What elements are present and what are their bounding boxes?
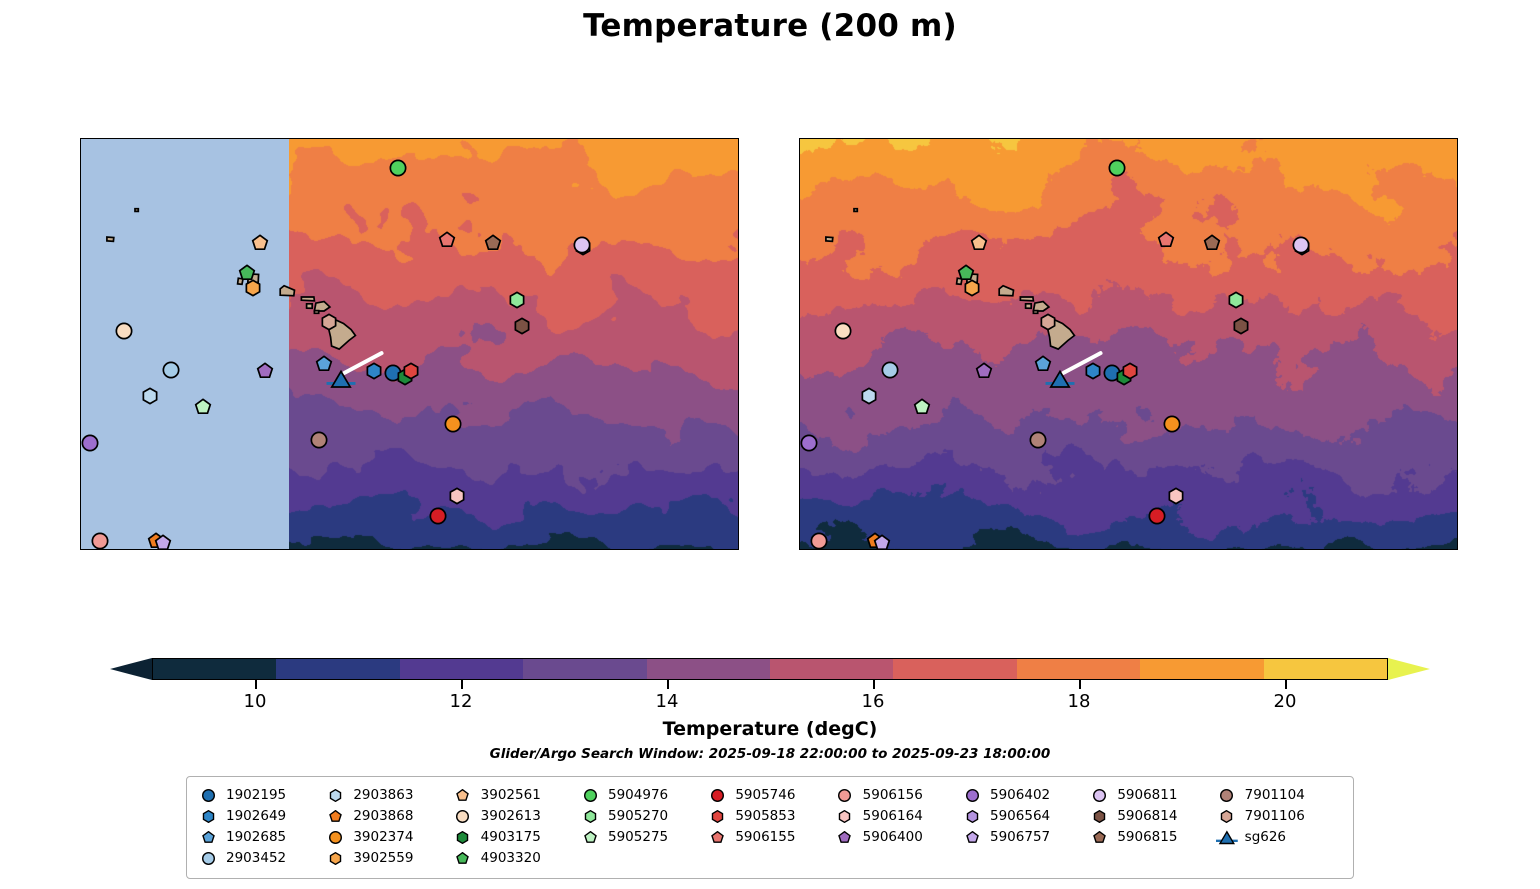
lat-minor-tick [80, 189, 81, 191]
colorbar-band-8 [1140, 659, 1263, 679]
lon-minor-tick [438, 549, 440, 550]
lon-tick-159°W [984, 549, 986, 550]
legend-label-5905275: 5905275 [608, 829, 668, 845]
lat-minor-tick [738, 393, 739, 395]
lat-tick-right-21°N [1457, 302, 1458, 304]
lat-minor-tick [80, 325, 81, 327]
legend-label-3902561: 3902561 [481, 787, 541, 803]
lat-tick-right-24°N [738, 234, 739, 236]
legend-marker-pentagon-icon [706, 827, 728, 847]
island-french-frigate [107, 237, 114, 241]
colorbar-tick-label-16: 16 [862, 691, 885, 712]
lon-minor-tick [876, 549, 878, 550]
legend-label-5906757: 5906757 [990, 829, 1050, 845]
platform-marker-3902561-espc[interactable] [971, 235, 988, 252]
lat-minor-tick [738, 279, 739, 281]
lon-minor-tick [1005, 549, 1007, 550]
legend-marker-circle-icon [706, 785, 728, 805]
legend-item-5906564[interactable]: 5906564 [961, 806, 1088, 826]
lon-minor-tick [1200, 549, 1202, 550]
lat-minor-tick [799, 189, 800, 191]
legend-item-5905275[interactable]: 5905275 [579, 827, 706, 847]
platform-marker-5905853-rtofs[interactable] [402, 363, 419, 380]
lat-tick-right-18°N [1457, 370, 1458, 372]
lon-tick-162°W [919, 549, 921, 550]
lat-minor-tick [799, 415, 800, 417]
legend-marker-hexagon-icon [961, 806, 983, 826]
lat-tick-right-15°N [1457, 438, 1458, 440]
lat-minor-tick [80, 211, 81, 213]
lat-minor-tick [80, 393, 81, 395]
colorbar-tick-label-12: 12 [450, 691, 473, 712]
lon-tick-150°W [1178, 549, 1180, 550]
legend-marker-pentagon-icon [961, 827, 983, 847]
colorbar-tick-12 [461, 680, 463, 689]
legend-label-1902649: 1902649 [226, 808, 286, 824]
island-gardner-pinnacles [135, 209, 138, 212]
platform-marker-7901106-espc[interactable] [1040, 314, 1057, 331]
platform-marker-7901106-rtofs[interactable] [321, 314, 338, 331]
lat-tick-right-15°N [738, 438, 739, 440]
island-lanai [307, 304, 313, 309]
legend-marker-hexagon-icon [197, 806, 219, 826]
legend-label-5905746: 5905746 [735, 787, 795, 803]
lat-minor-tick [738, 325, 739, 327]
legend-marker-circle-icon [324, 827, 346, 847]
lat-minor-tick [738, 257, 739, 259]
legend-item-2903452[interactable]: 2903452 [197, 848, 324, 868]
island-molokai [1020, 297, 1033, 301]
lon-minor-tick [1394, 549, 1396, 550]
lon-minor-tick [697, 549, 699, 550]
lon-tick-162°W [200, 549, 202, 550]
lat-minor-tick [799, 325, 800, 327]
legend-item-3902561[interactable]: 3902561 [452, 785, 579, 805]
lon-minor-tick [546, 549, 548, 550]
legend-marker-pentagon-icon [452, 785, 474, 805]
platform-marker-5905853-espc[interactable] [1121, 363, 1138, 380]
platform-marker-5906814-espc[interactable] [1232, 317, 1249, 334]
lat-tick-right-21°N [738, 302, 739, 304]
platform-marker-5904976-rtofs[interactable] [389, 160, 406, 177]
platform-marker-5906402-rtofs[interactable] [81, 435, 98, 452]
lon-minor-tick [373, 549, 375, 550]
lat-minor-tick [738, 347, 739, 349]
legend-item-5906757[interactable]: 5906757 [961, 827, 1088, 847]
lat-minor-tick [1457, 415, 1458, 417]
legend-label-5905270: 5905270 [608, 808, 668, 824]
lat-minor-tick [1457, 325, 1458, 327]
lon-tick-141°W [1373, 549, 1375, 550]
colorbar-band-0 [153, 659, 276, 679]
legend-marker-circle-icon [834, 785, 856, 805]
lat-tick-right-18°N [738, 370, 739, 372]
platform-marker-5905275-espc[interactable] [914, 399, 931, 416]
lon-tick-138°W [718, 549, 720, 550]
colorbar-tick-label-18: 18 [1068, 691, 1091, 712]
legend-item-5904976[interactable]: 5904976 [579, 785, 706, 805]
colorbar-tick-label-20: 20 [1274, 691, 1297, 712]
platform-marker-4903320-rtofs[interactable] [239, 264, 256, 281]
lon-minor-tick [1027, 549, 1029, 550]
land-layer [81, 139, 738, 549]
legend-marker-circle-icon [579, 785, 601, 805]
lon-minor-tick [675, 549, 677, 550]
legend-label-5906164: 5906164 [863, 808, 923, 824]
platform-marker-3902613-espc[interactable] [835, 323, 852, 340]
legend-item-7901106[interactable]: 7901106 [1216, 806, 1343, 826]
platform-marker-5904976-espc[interactable] [1108, 160, 1125, 177]
lat-minor-tick [799, 483, 800, 485]
platform-marker-5906811-espc[interactable] [1293, 237, 1310, 254]
lat-tick-left-27°N [80, 166, 81, 168]
legend-marker-pentagon-icon [579, 827, 601, 847]
platform-marker-3902374-espc[interactable] [1163, 416, 1180, 433]
legend-item-1902685[interactable]: 1902685 [197, 827, 324, 847]
lon-minor-tick [940, 549, 942, 550]
lat-minor-tick [80, 279, 81, 281]
platform-marker-5906156-rtofs[interactable] [92, 532, 109, 549]
lon-tick-138°W [1437, 549, 1439, 550]
legend-marker-hexagon-icon [834, 806, 856, 826]
legend-label-5906815: 5906815 [1117, 829, 1177, 845]
legend-label-2903863: 2903863 [353, 787, 413, 803]
legend-item-1902649[interactable]: 1902649 [197, 806, 324, 826]
legend-label-3902559: 3902559 [353, 850, 413, 866]
island-kahoolawe [314, 311, 318, 314]
colorbar-tick-20 [1285, 680, 1287, 689]
colorbar-tick-16 [873, 680, 875, 689]
platform-marker-2903452-rtofs[interactable] [162, 361, 179, 378]
lon-tick-159°W [265, 549, 267, 550]
legend-item-4903320[interactable]: 4903320 [452, 848, 579, 868]
legend-label-7901106: 7901106 [1245, 808, 1305, 824]
legend-marker-hexagon-icon [324, 785, 346, 805]
legend-label-5906400: 5906400 [863, 829, 923, 845]
lat-tick-left-18°N [799, 370, 800, 372]
legend-item-3902613[interactable]: 3902613 [452, 806, 579, 826]
legend-marker-hexagon-icon [324, 848, 346, 868]
lon-minor-tick [351, 549, 353, 550]
lat-minor-tick [738, 211, 739, 213]
lon-minor-tick [1092, 549, 1094, 550]
lat-minor-tick [1457, 279, 1458, 281]
colorbar-tick-18 [1079, 680, 1081, 689]
legend-item-4903175[interactable]: 4903175 [452, 827, 579, 847]
lat-tick-left-24°N [799, 234, 800, 236]
lon-minor-tick [962, 549, 964, 550]
legend-marker-pentagon-icon [834, 827, 856, 847]
lon-minor-tick [1157, 549, 1159, 550]
lat-tick-right-27°N [1457, 166, 1458, 168]
lat-minor-tick [80, 257, 81, 259]
map-canvas-rtofs [81, 139, 738, 549]
lat-minor-tick [80, 415, 81, 417]
lon-minor-tick [632, 549, 634, 550]
legend-item-5906402[interactable]: 5906402 [961, 785, 1088, 805]
island-oahu [999, 286, 1013, 296]
island-molokai [301, 297, 314, 301]
legend-item-5906814[interactable]: 5906814 [1088, 806, 1215, 826]
platform-marker-2903452-espc[interactable] [881, 361, 898, 378]
platform-marker-1902649-rtofs[interactable] [365, 363, 382, 380]
search-window-caption: Glider/Argo Search Window: 2025-09-18 22… [0, 746, 1540, 762]
platform-marker-3902613-rtofs[interactable] [116, 323, 133, 340]
legend-item-2903868[interactable]: 2903868 [324, 806, 451, 826]
platform-marker-5905275-rtofs[interactable] [195, 399, 212, 416]
lat-minor-tick [1457, 257, 1458, 259]
lat-tick-left-18°N [80, 370, 81, 372]
lat-minor-tick [1457, 347, 1458, 349]
lon-tick-165°W [135, 549, 137, 550]
platform-marker-sg626-espc[interactable] [1046, 369, 1075, 389]
platform-marker-4903320-espc[interactable] [958, 264, 975, 281]
legend-item-3902559[interactable]: 3902559 [324, 848, 451, 868]
lon-minor-tick [1221, 549, 1223, 550]
platform-marker-5906815-rtofs[interactable] [484, 235, 501, 252]
lon-minor-tick [502, 549, 504, 550]
lat-minor-tick [738, 460, 739, 462]
platform-marker-5906757-espc[interactable] [874, 535, 891, 549]
lat-minor-tick [1457, 211, 1458, 213]
lat-minor-tick [80, 483, 81, 485]
platform-marker-5905270-espc[interactable] [1228, 291, 1245, 308]
platform-marker-5906400-rtofs[interactable] [256, 363, 273, 380]
platform-marker-sg626-rtofs[interactable] [327, 369, 356, 389]
platform-marker-5906156-espc[interactable] [811, 532, 828, 549]
lat-minor-tick [738, 483, 739, 485]
legend-label-5906564: 5906564 [990, 808, 1050, 824]
legend-item-5906811[interactable]: 5906811 [1088, 785, 1215, 805]
lon-tick-144°W [1308, 549, 1310, 550]
legend-label-5904976: 5904976 [608, 787, 668, 803]
lon-minor-tick [157, 549, 159, 550]
lat-tick-right-24°N [1457, 234, 1458, 236]
platform-marker-3902561-rtofs[interactable] [252, 235, 269, 252]
island-french-frigate [826, 237, 833, 241]
lat-minor-tick [1457, 460, 1458, 462]
lat-minor-tick [738, 415, 739, 417]
legend-marker-triangle-line-icon [1216, 827, 1238, 847]
lat-minor-tick [1457, 483, 1458, 485]
legend-item-5905270[interactable]: 5905270 [579, 806, 706, 826]
lon-minor-tick [1329, 549, 1331, 550]
platform-marker-3902374-rtofs[interactable] [444, 416, 461, 433]
legend-item-5906815[interactable]: 5906815 [1088, 827, 1215, 847]
legend-label-sg626: sg626 [1245, 829, 1286, 845]
legend-item-5906400[interactable]: 5906400 [834, 827, 961, 847]
legend-label-2903452: 2903452 [226, 850, 286, 866]
platform-marker-5906155-rtofs[interactable] [439, 231, 456, 248]
legend-label-5906156: 5906156 [863, 787, 923, 803]
legend-marker-circle-icon [1088, 785, 1110, 805]
legend-label-5906402: 5906402 [990, 787, 1050, 803]
platform-marker-5906155-espc[interactable] [1158, 231, 1175, 248]
lon-tick-150°W [459, 549, 461, 550]
colorbar-extend-min [110, 658, 152, 680]
legend-item-5906155[interactable]: 5906155 [706, 827, 833, 847]
island-kahoolawe [1033, 311, 1037, 314]
lon-minor-tick [221, 549, 223, 550]
platform-marker-5906402-espc[interactable] [800, 435, 817, 452]
legend-label-1902195: 1902195 [226, 787, 286, 803]
platform-marker-5906164-rtofs[interactable] [448, 487, 465, 504]
legend-item-2903863[interactable]: 2903863 [324, 785, 451, 805]
legend-item-3902374[interactable]: 3902374 [324, 827, 451, 847]
platform-marker-5906164-espc[interactable] [1167, 487, 1184, 504]
platform-marker-7901104-espc[interactable] [1029, 432, 1046, 449]
colorbar-band-7 [1017, 659, 1140, 679]
map-canvas-espc [800, 139, 1457, 549]
lon-minor-tick [178, 549, 180, 550]
legend-marker-circle-icon [961, 785, 983, 805]
legend-label-4903175: 4903175 [481, 829, 541, 845]
platform-marker-5906815-espc[interactable] [1203, 235, 1220, 252]
colorbar-band-5 [770, 659, 893, 679]
lat-minor-tick [799, 279, 800, 281]
platform-marker-5906814-rtofs[interactable] [513, 317, 530, 334]
lon-tick-147°W [524, 549, 526, 550]
legend-marker-hexagon-icon [579, 806, 601, 826]
legend-marker-circle-icon [1216, 785, 1238, 805]
legend-item-5906156[interactable]: 5906156 [834, 785, 961, 805]
lat-tick-left-27°N [799, 166, 800, 168]
legend-item-7901104[interactable]: 7901104 [1216, 785, 1343, 805]
lat-tick-left-12°N [80, 506, 81, 508]
colorbar-band-4 [647, 659, 770, 679]
lon-minor-tick [1286, 549, 1288, 550]
lat-tick-left-21°N [80, 302, 81, 304]
lon-tick-153°W [394, 549, 396, 550]
lon-minor-tick [1265, 549, 1267, 550]
legend-item-5905746[interactable]: 5905746 [706, 785, 833, 805]
platform-marker-7901104-rtofs[interactable] [310, 432, 327, 449]
colorbar: 101214161820 [110, 658, 1430, 680]
figure-title: Temperature (200 m) [0, 8, 1540, 44]
colorbar-band-9 [1264, 659, 1387, 679]
colorbar-band-2 [400, 659, 523, 679]
platform-marker-2903863-espc[interactable] [861, 387, 878, 404]
lat-minor-tick [799, 460, 800, 462]
lon-minor-tick [1351, 549, 1353, 550]
lon-minor-tick [610, 549, 612, 550]
map-panel-rtofs[interactable]: RTOFS - 2025-09-23 18:00:00 165°W162°W15… [80, 138, 739, 550]
legend-item-5905853[interactable]: 5905853 [706, 806, 833, 826]
lon-minor-tick [1135, 549, 1137, 550]
colorbar-band-6 [893, 659, 1016, 679]
lat-minor-tick [80, 144, 81, 146]
legend-label-5906814: 5906814 [1117, 808, 1177, 824]
legend-label-5906811: 5906811 [1117, 787, 1177, 803]
legend-marker-circle-icon [452, 806, 474, 826]
colorbar-tick-10 [255, 680, 257, 689]
platform-marker-3902559-espc[interactable] [963, 280, 980, 297]
legend-marker-pentagon-icon [452, 848, 474, 868]
platform-marker-5905746-rtofs[interactable] [429, 507, 446, 524]
legend-marker-hexagon-icon [452, 827, 474, 847]
platform-marker-3902559-rtofs[interactable] [244, 280, 261, 297]
legend-marker-hexagon-icon [1088, 806, 1110, 826]
platform-marker-5906757-rtofs[interactable] [155, 535, 172, 549]
colorbar-bands [152, 658, 1388, 680]
legend-label-4903320: 4903320 [481, 850, 541, 866]
legend-label-7901104: 7901104 [1245, 787, 1305, 803]
legend-marker-pentagon-icon [324, 806, 346, 826]
lat-minor-tick [799, 144, 800, 146]
lat-minor-tick [1457, 189, 1458, 191]
lon-tick-141°W [654, 549, 656, 550]
legend-label-1902685: 1902685 [226, 829, 286, 845]
legend-marker-hexagon-icon [706, 806, 728, 826]
platform-legend: 1902195290386339025615904976590574659061… [186, 776, 1354, 879]
colorbar-extend-max [1388, 658, 1430, 680]
legend-marker-circle-icon [197, 785, 219, 805]
legend-item-sg626[interactable]: sg626 [1216, 827, 1343, 847]
legend-marker-pentagon-icon [197, 827, 219, 847]
lat-tick-right-12°N [1457, 506, 1458, 508]
island-lanai [1026, 304, 1032, 309]
lat-minor-tick [80, 347, 81, 349]
island-maui [314, 302, 330, 312]
lon-minor-tick [567, 549, 569, 550]
island-oahu [280, 286, 294, 296]
lon-minor-tick [1070, 549, 1072, 550]
lon-tick-147°W [1243, 549, 1245, 550]
island-gardner-pinnacles [854, 209, 857, 212]
lat-minor-tick [1457, 144, 1458, 146]
legend-marker-hexagon-icon [1216, 806, 1238, 826]
lat-tick-left-24°N [80, 234, 81, 236]
lon-minor-tick [243, 549, 245, 550]
colorbar-band-3 [523, 659, 646, 679]
lon-tick-144°W [589, 549, 591, 550]
map-panel-espc[interactable]: ESPC - 2025-09-23 18:00:00 165°W162°W159… [799, 138, 1458, 550]
lat-minor-tick [738, 189, 739, 191]
platform-marker-5906400-espc[interactable] [975, 363, 992, 380]
legend-item-1902195[interactable]: 1902195 [197, 785, 324, 805]
platform-marker-5905746-espc[interactable] [1148, 507, 1165, 524]
colorbar-band-1 [276, 659, 399, 679]
lon-minor-tick [308, 549, 310, 550]
colorbar-tick-14 [667, 680, 669, 689]
legend-label-3902613: 3902613 [481, 808, 541, 824]
colorbar-tick-label-14: 14 [656, 691, 679, 712]
lon-tick-156°W [1048, 549, 1050, 550]
colorbar-title: Temperature (degC) [0, 718, 1540, 740]
legend-marker-pentagon-icon [1088, 827, 1110, 847]
lat-minor-tick [799, 211, 800, 213]
lat-minor-tick [1457, 393, 1458, 395]
lon-minor-tick [1416, 549, 1418, 550]
legend-label-5905853: 5905853 [735, 808, 795, 824]
legend-label-3902374: 3902374 [353, 829, 413, 845]
lat-minor-tick [738, 144, 739, 146]
platform-marker-2903863-rtofs[interactable] [142, 387, 159, 404]
platform-marker-5906811-rtofs[interactable] [574, 237, 591, 254]
legend-marker-circle-icon [197, 848, 219, 868]
lat-minor-tick [799, 347, 800, 349]
legend-label-2903868: 2903868 [353, 808, 413, 824]
legend-item-5906164[interactable]: 5906164 [834, 806, 961, 826]
lon-tick-156°W [329, 549, 331, 550]
platform-marker-1902649-espc[interactable] [1084, 363, 1101, 380]
lon-tick-165°W [854, 549, 856, 550]
lon-minor-tick [481, 549, 483, 550]
platform-marker-5905270-rtofs[interactable] [509, 291, 526, 308]
lon-minor-tick [416, 549, 418, 550]
lat-tick-left-21°N [799, 302, 800, 304]
land-layer [800, 139, 1457, 549]
